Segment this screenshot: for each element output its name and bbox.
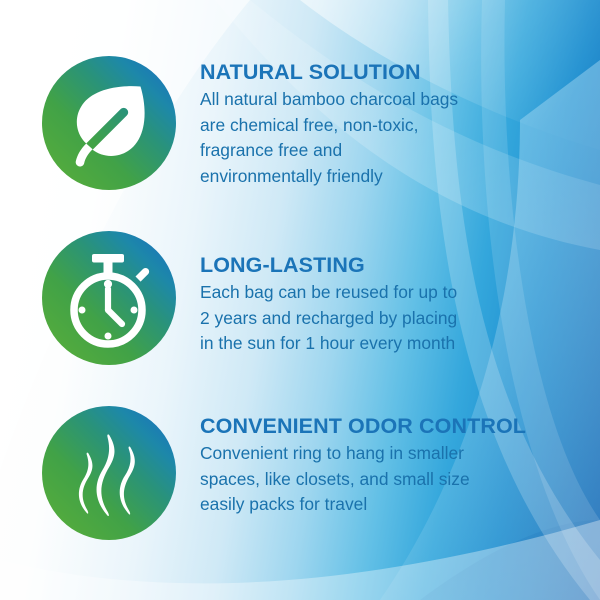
feature-text-block: NATURAL SOLUTION All natural bamboo char…	[200, 56, 600, 189]
leaf-icon-badge	[42, 56, 176, 190]
odor-waves-icon	[42, 406, 176, 540]
feature-text-block: LONG-LASTING Each bag can be reused for …	[200, 231, 600, 357]
feature-text-block: CONVENIENT ODOR CONTROL Convenient ring …	[200, 406, 600, 518]
leaf-icon	[42, 56, 176, 190]
product-feature-infographic: NATURAL SOLUTION All natural bamboo char…	[0, 0, 600, 600]
feature-body: Each bag can be reused for up to 2 years…	[200, 280, 584, 357]
feature-row: LONG-LASTING Each bag can be reused for …	[0, 231, 600, 365]
odor-waves-icon-badge	[42, 406, 176, 540]
feature-body: All natural bamboo charcoal bags are che…	[200, 87, 584, 189]
stopwatch-icon-badge	[42, 231, 176, 365]
feature-title: LONG-LASTING	[200, 253, 584, 278]
feature-title: NATURAL SOLUTION	[200, 60, 584, 85]
feature-body: Convenient ring to hang in smaller space…	[200, 441, 584, 518]
feature-row: NATURAL SOLUTION All natural bamboo char…	[0, 56, 600, 190]
feature-title: CONVENIENT ODOR CONTROL	[200, 414, 584, 439]
feature-row: CONVENIENT ODOR CONTROL Convenient ring …	[0, 406, 600, 540]
stopwatch-icon	[42, 231, 176, 365]
